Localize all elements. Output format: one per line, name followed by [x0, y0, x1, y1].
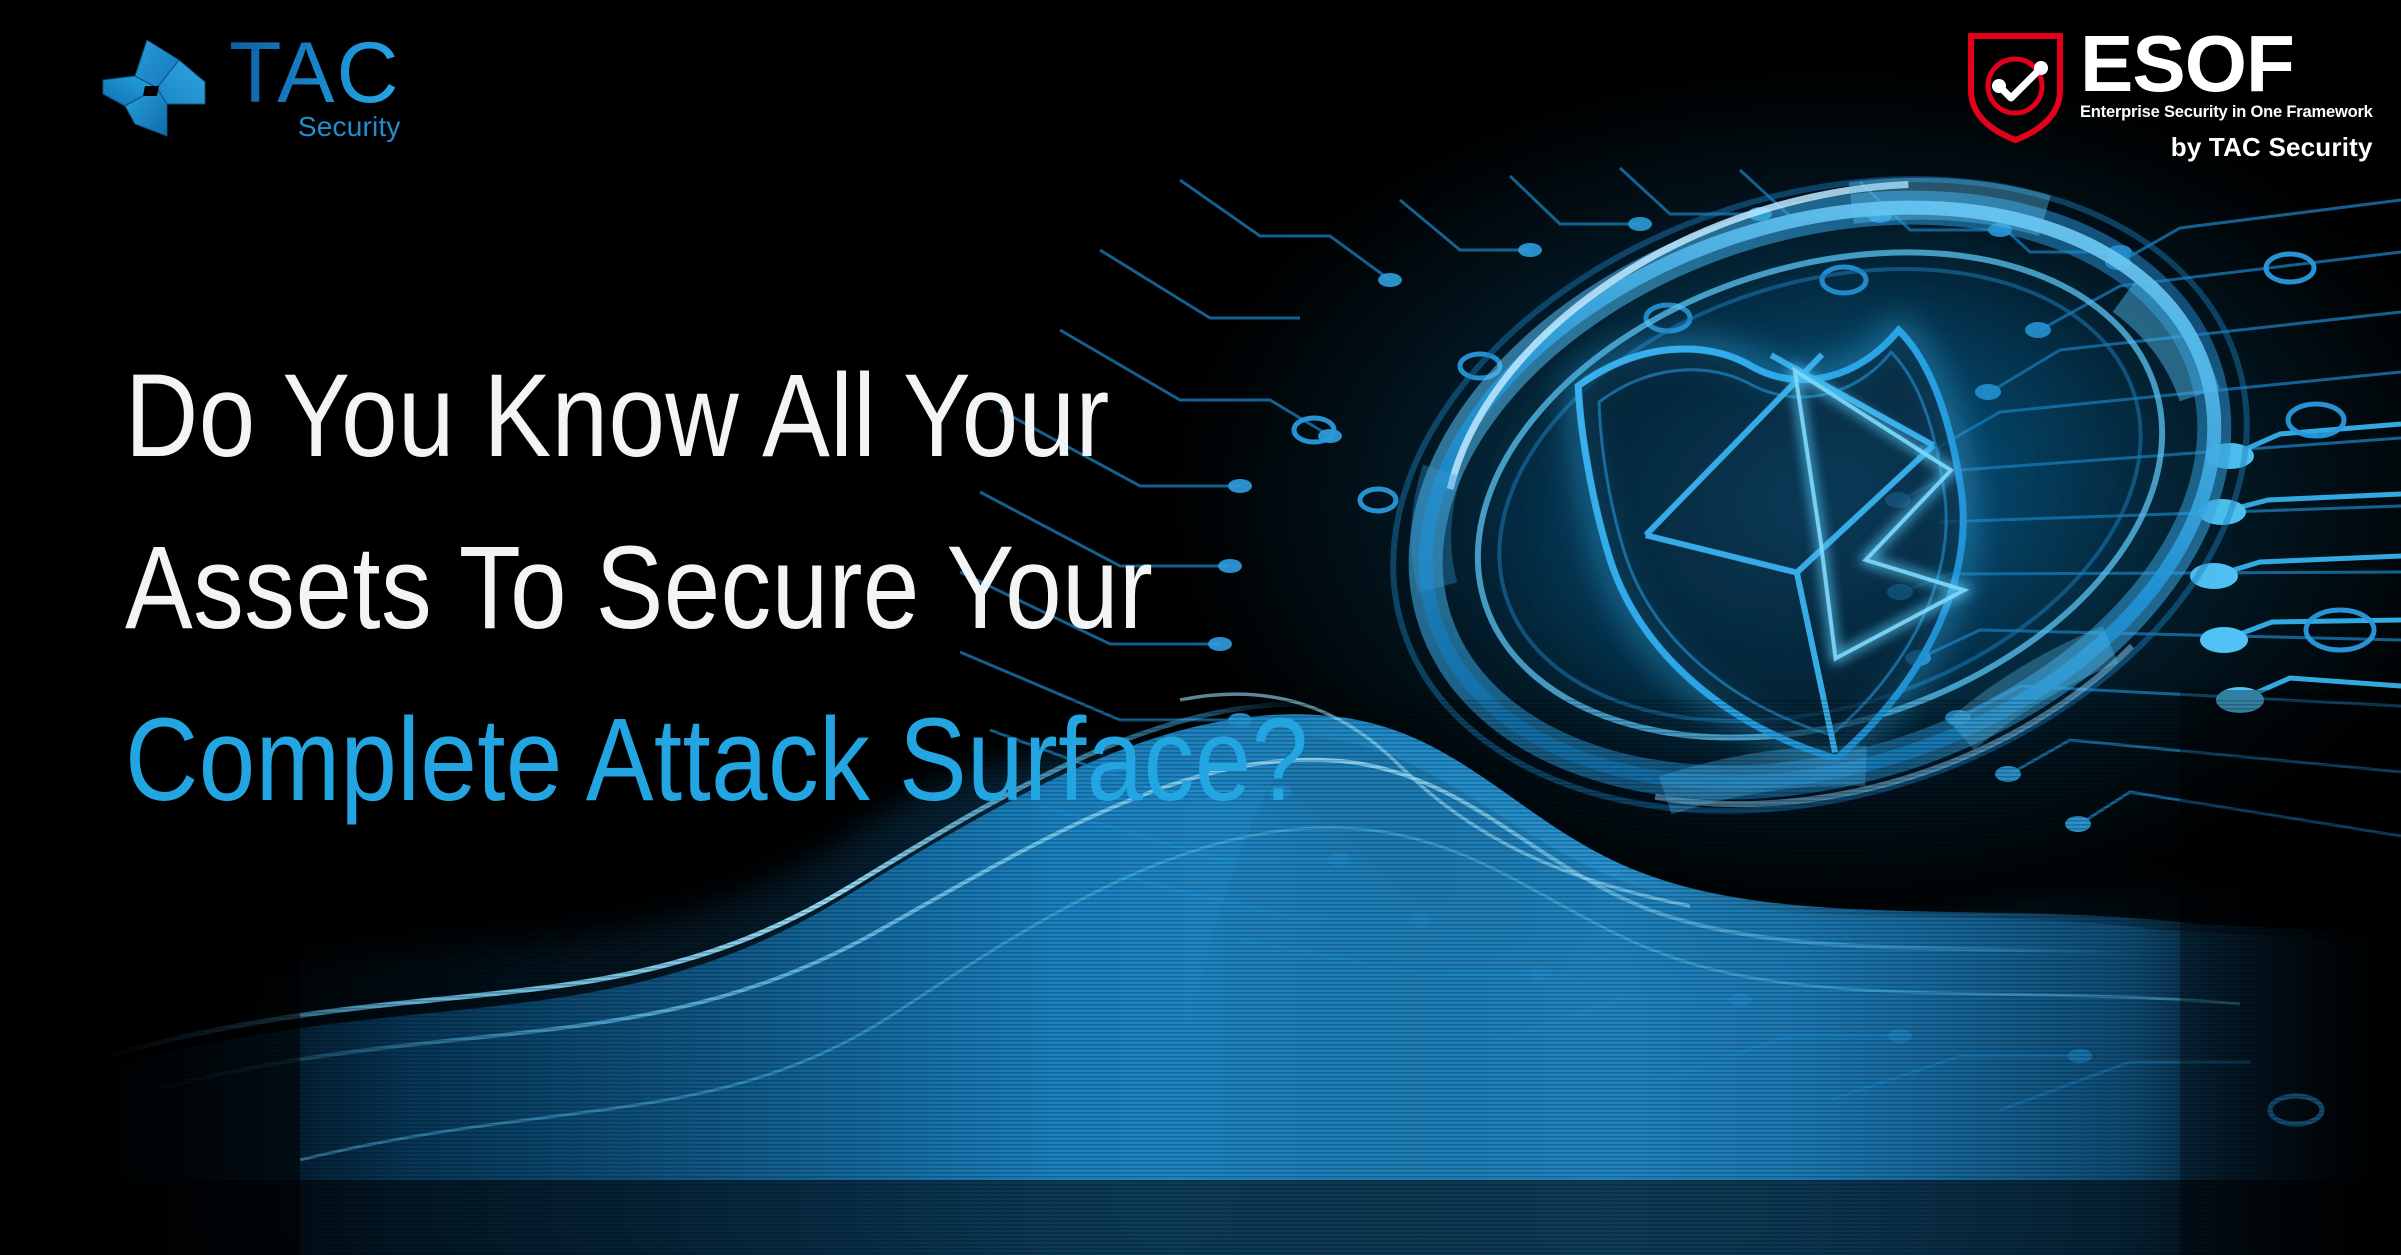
headline: Do You Know All Your Assets To Secure Yo…: [125, 330, 1445, 846]
tac-security-logo[interactable]: TAC Security: [95, 32, 515, 162]
headline-line-2: Assets To Secure Your: [125, 502, 1260, 674]
promo-banner: TAC Security ESOF Enterprise Security in…: [0, 0, 2401, 1255]
esof-wordmark: ESOF: [2080, 26, 2373, 102]
esof-logo[interactable]: ESOF Enterprise Security in One Framewor…: [1963, 26, 2363, 166]
tac-pinwheel-mark-icon: [95, 32, 213, 150]
esof-shield-check-icon: [1963, 28, 2068, 146]
headline-line-1: Do You Know All Your: [125, 330, 1260, 502]
esof-byline: by TAC Security: [2080, 132, 2373, 163]
esof-tagline: Enterprise Security in One Framework: [2080, 103, 2373, 122]
headline-line-3: Complete Attack Surface?: [125, 674, 1260, 846]
tac-wordmark: TAC: [229, 34, 401, 113]
